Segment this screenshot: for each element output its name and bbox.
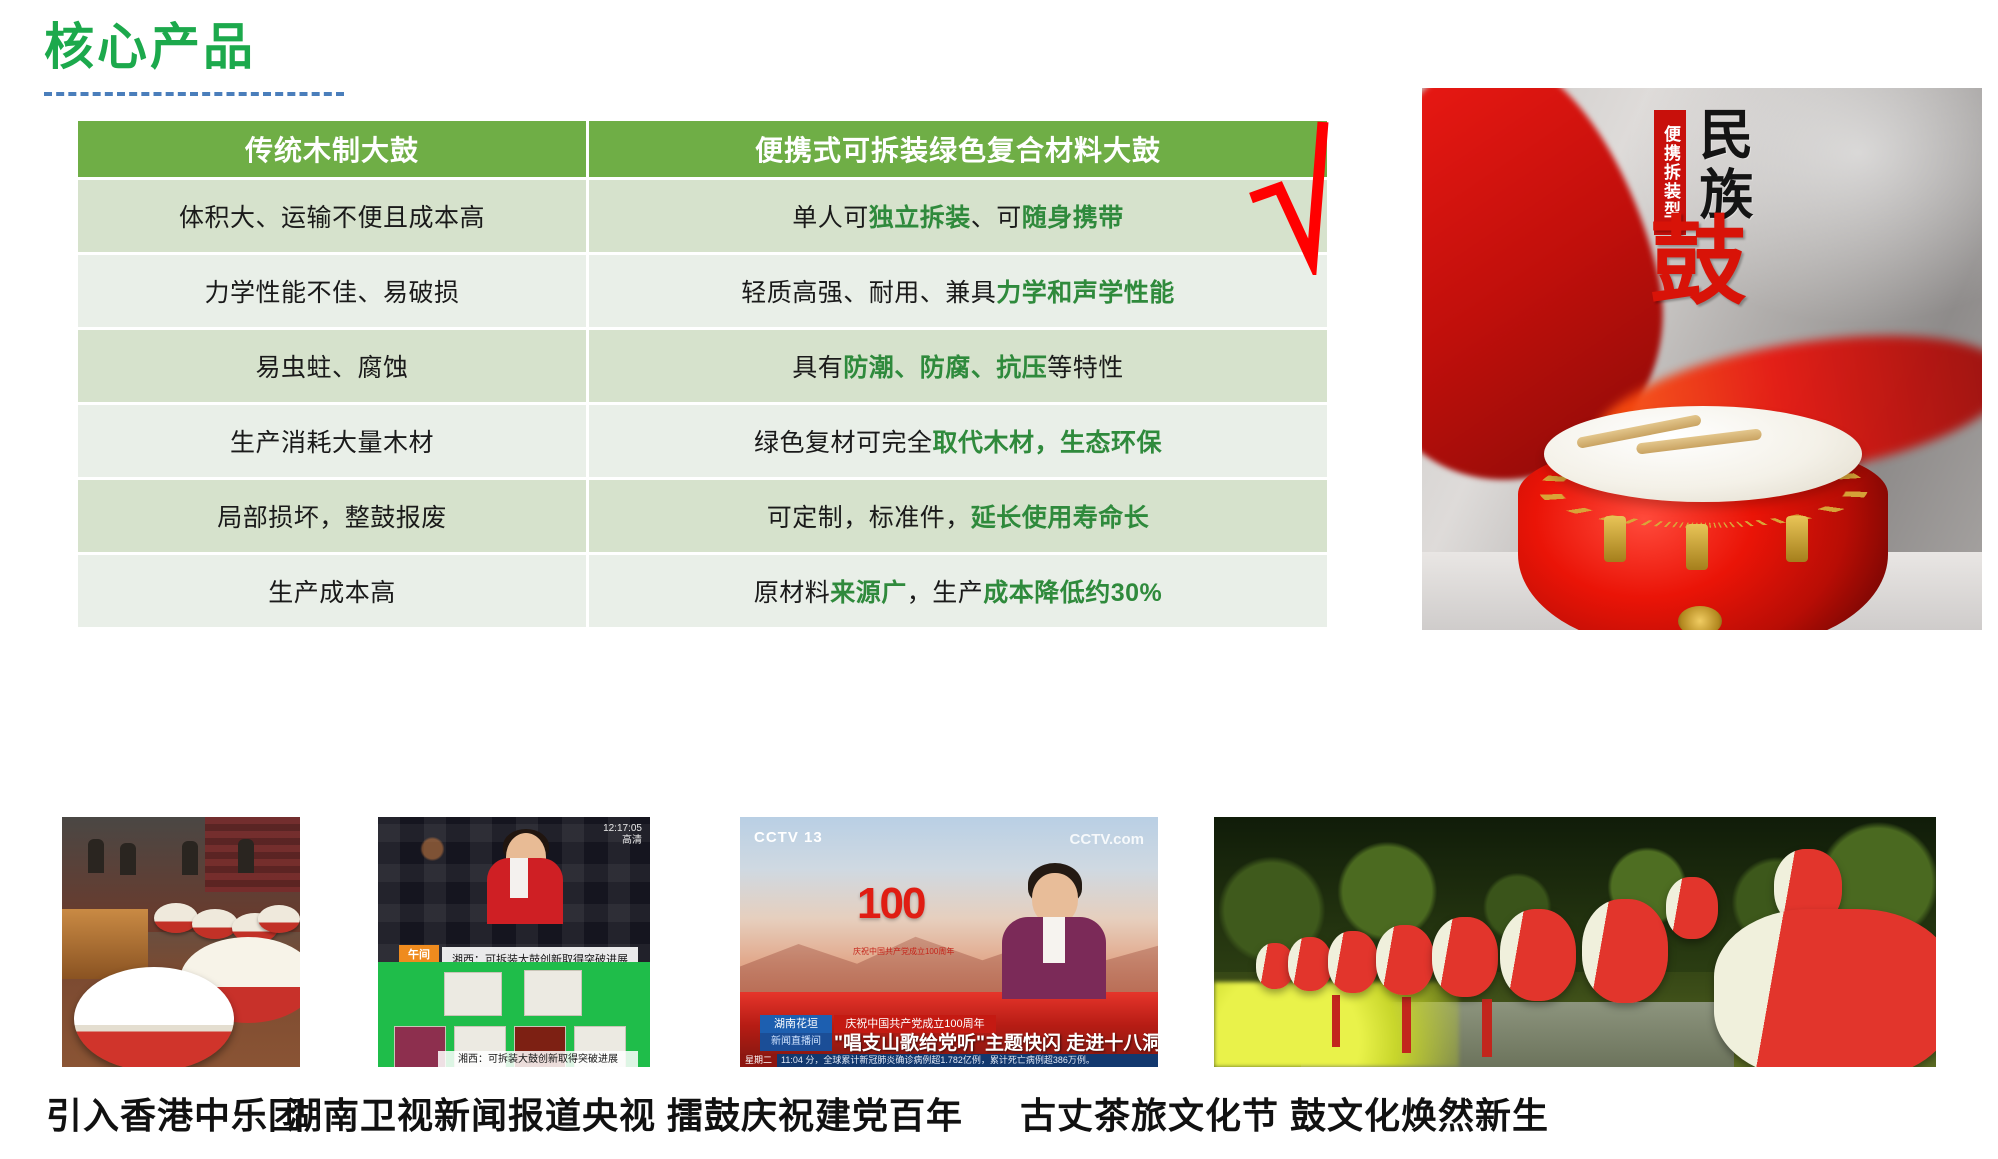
thumb2-anchor-collar <box>510 858 528 898</box>
caption-cctv: 央视 擂鼓庆祝建党百年 <box>582 1087 963 1139</box>
cell-traditional: 力学性能不佳、易破损 <box>78 255 586 327</box>
highlighted-text: 随身携带 <box>1022 204 1124 232</box>
thumb4-drum <box>1376 925 1434 995</box>
thumb2-badge-line1: 午间 <box>408 949 430 961</box>
thumb4-drum <box>1288 937 1332 991</box>
thumb1-small-drum <box>154 903 198 933</box>
cell-traditional: 生产消耗大量木材 <box>78 405 586 477</box>
table-body: 体积大、运输不便且成本高单人可独立拆装、可随身携带力学性能不佳、易破损轻质高强、… <box>78 180 1327 627</box>
table-row: 体积大、运输不便且成本高单人可独立拆装、可随身携带 <box>78 180 1327 252</box>
cell-traditional: 局部损坏，整鼓报废 <box>78 480 586 552</box>
thumb3-anniversary-subtitle: 庆祝中国共产党成立100周年 <box>849 947 959 957</box>
drum-illustration <box>1518 388 1888 630</box>
thumb4-drum-stand <box>1332 995 1340 1047</box>
thumb3-location-tag: 湖南花垣 <box>760 1015 832 1033</box>
page-title: 核心产品 <box>44 22 256 72</box>
highlighted-text: 防潮、防腐、抗压 <box>843 354 1047 382</box>
cell-composite: 轻质高强、耐用、兼具力学和声学性能 <box>589 255 1327 327</box>
thumb3-headline-main: "唱支山歌给党听"主题快闪 走进十八洞村 <box>834 1028 1158 1055</box>
thumb4-drum <box>1666 877 1718 939</box>
caption-festival: 古丈茶旅文化节 鼓文化焕然新生 <box>1020 1087 1549 1139</box>
thumbnail-hunan-tv-news: 12:17:05 高清 午间 新闻 湘西：可拆装大鼓创新取得突破进展 湘西：可拆… <box>378 817 650 1067</box>
thumb2-lower-third-caption-2: 湘西：可拆装大鼓创新取得突破进展 <box>438 1051 638 1067</box>
thumb1-drum-primary <box>74 967 234 1067</box>
thumb3-ticker-time: 11:04 <box>781 1055 803 1065</box>
thumb2-green-screen: 湘西：可拆装大鼓创新取得突破进展 <box>378 962 650 1067</box>
caption-orchestra: 引入香港中乐团 <box>46 1087 305 1139</box>
cell-composite: 具有防潮、防腐、抗压等特性 <box>589 330 1327 402</box>
thumb4-drum-foreground <box>1714 909 1936 1067</box>
thumb3-program-tag: 新闻直播间 <box>760 1033 832 1051</box>
title-divider <box>44 92 344 96</box>
cell-composite: 单人可独立拆装、可随身携带 <box>589 180 1327 252</box>
plain-text: 绿色复材可完全 <box>754 429 933 457</box>
table-header-row: 传统木制大鼓 便携式可拆装绿色复合材料大鼓 <box>78 121 1327 177</box>
thumb4-drum-stand <box>1482 999 1492 1057</box>
thumb4-drum <box>1582 899 1668 1003</box>
cell-traditional: 易虫蛀、腐蚀 <box>78 330 586 402</box>
product-hero-image: 便携拆装型 民族 鼓 <box>1422 88 1982 630</box>
comparison-table: 传统木制大鼓 便携式可拆装绿色复合材料大鼓 体积大、运输不便且成本高单人可独立拆… <box>75 118 1330 630</box>
table-row: 生产消耗大量木材绿色复材可完全取代木材，生态环保 <box>78 405 1327 477</box>
thumb3-ticker-day: 星期二 <box>740 1054 777 1067</box>
thumbnail-orchestra <box>62 817 300 1067</box>
highlighted-text: 独立拆装 <box>869 204 971 232</box>
highlighted-text: 成本降低约30% <box>983 579 1162 607</box>
thumb3-watermark: CCTV.com <box>1070 831 1144 848</box>
caption-hunan-tv: 湖南卫视新闻报道 <box>286 1087 582 1139</box>
thumb3-news-ticker: 星期二11:04 分，全球累计新冠肺炎确诊病例超1.782亿例，累计死亡病例超3… <box>740 1054 1158 1067</box>
thumb1-musician <box>238 839 254 873</box>
highlighted-text: 来源广 <box>830 579 907 607</box>
thumbnail-drum-festival <box>1214 817 1936 1067</box>
plain-text: 原材料 <box>754 579 831 607</box>
cell-composite: 绿色复材可完全取代木材，生态环保 <box>589 405 1327 477</box>
drum-head <box>1544 406 1862 502</box>
plain-text: 具有 <box>792 354 843 382</box>
thumb2-timestamp: 12:17:05 高清 <box>603 823 642 847</box>
highlighted-text: 延长使用寿命长 <box>971 504 1150 532</box>
thumb2-hd-label: 高清 <box>622 835 642 846</box>
plain-text: ，生产 <box>907 579 984 607</box>
plain-text: 、可 <box>971 204 1022 232</box>
thumb4-drum <box>1328 931 1378 993</box>
thumb2-certificate <box>444 972 502 1016</box>
column-header-traditional: 传统木制大鼓 <box>78 121 586 177</box>
thumb2-time-value: 12:17:05 <box>603 823 642 834</box>
thumb2-studio-background: 12:17:05 高清 <box>378 817 650 962</box>
thumb4-drum <box>1500 909 1576 1001</box>
cell-composite: 原材料来源广，生产成本降低约30% <box>589 555 1327 627</box>
thumb3-channel-logo: CCTV 13 <box>754 829 823 846</box>
thumb3-ticker-text: 分，全球累计新冠肺炎确诊病例超1.782亿例，累计死亡病例超386万例。 <box>805 1055 1095 1065</box>
plain-text: 单人可 <box>792 204 869 232</box>
highlighted-text: 力学和声学性能 <box>996 279 1175 307</box>
plain-text: 轻质高强、耐用、兼具 <box>741 279 996 307</box>
plain-text: 等特性 <box>1047 354 1124 382</box>
product-title-large: 鼓 <box>1650 216 1750 308</box>
table-row: 力学性能不佳、易破损轻质高强、耐用、兼具力学和声学性能 <box>78 255 1327 327</box>
plain-text: 可定制，标准件， <box>767 504 971 532</box>
table-row: 易虫蛀、腐蚀具有防潮、防腐、抗压等特性 <box>78 330 1327 402</box>
thumb3-anniversary-logo: 100 <box>857 882 924 926</box>
thumb1-small-drum <box>258 905 300 933</box>
table-row: 局部损坏，整鼓报废可定制，标准件，延长使用寿命长 <box>78 480 1327 552</box>
thumb1-small-drum <box>192 909 238 939</box>
drum-latch-icon <box>1786 516 1808 562</box>
drum-ring-handle <box>1678 606 1722 630</box>
thumb4-drum-stand <box>1402 997 1411 1053</box>
thumb4-drum <box>1432 917 1498 997</box>
thumb1-musician <box>182 841 198 875</box>
cell-composite: 可定制，标准件，延长使用寿命长 <box>589 480 1327 552</box>
drum-latch-icon <box>1604 516 1626 562</box>
thumb1-musician <box>120 843 136 875</box>
table-row: 生产成本高原材料来源广，生产成本降低约30% <box>78 555 1327 627</box>
thumbnail-cctv-news: CCTV 13 CCTV.com 100 庆祝中国共产党成立100周年 湖南花垣… <box>740 817 1158 1067</box>
thumb1-musician <box>88 839 104 873</box>
thumb2-certificate <box>524 970 582 1016</box>
highlighted-text: 取代木材，生态环保 <box>933 429 1163 457</box>
thumb3-anchor-shirt <box>1043 917 1065 963</box>
drum-latch-icon <box>1686 524 1708 570</box>
column-header-composite: 便携式可拆装绿色复合材料大鼓 <box>589 121 1327 177</box>
cell-traditional: 生产成本高 <box>78 555 586 627</box>
cell-traditional: 体积大、运输不便且成本高 <box>78 180 586 252</box>
